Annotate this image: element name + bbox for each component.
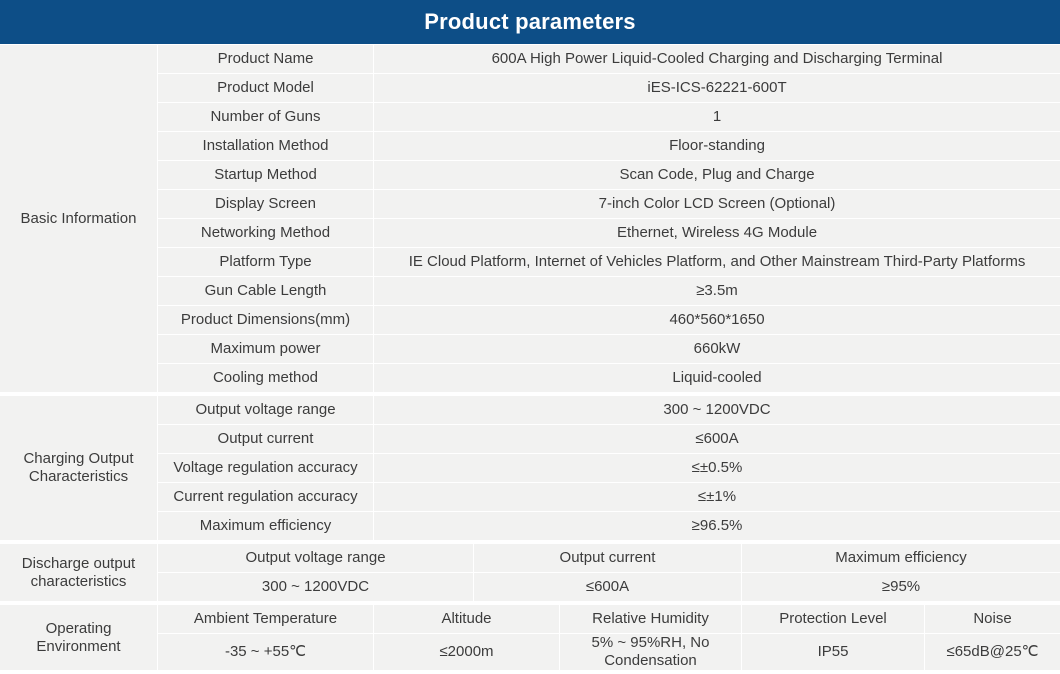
row-key-maximum-power: Maximum power: [158, 335, 374, 363]
environment-value-relative-humidity: 5% ~ 95%RH, No Condensation: [560, 634, 742, 670]
discharge-header-output-voltage-range: Output voltage range: [158, 544, 474, 572]
row-value-charging-output-voltage-range: 300 ~ 1200VDC: [374, 396, 1060, 424]
environment-value-protection-level: IP55: [742, 634, 925, 670]
row-key-product-name: Product Name: [158, 45, 374, 73]
table-row: Product Dimensions(mm) 460*560*1650: [0, 306, 1060, 334]
table-row: Basic Information Product Name 600A High…: [0, 45, 1060, 73]
discharge-value-maximum-efficiency: ≥95%: [742, 573, 1060, 601]
table-row: Cooling method Liquid-cooled: [0, 364, 1060, 392]
row-value-startup-method: Scan Code, Plug and Charge: [374, 161, 1060, 189]
row-value-maximum-power: 660kW: [374, 335, 1060, 363]
table-row: Maximum efficiency ≥96.5%: [0, 512, 1060, 540]
row-value-platform-type: IE Cloud Platform, Internet of Vehicles …: [374, 248, 1060, 276]
discharge-value-output-voltage-range: 300 ~ 1200VDC: [158, 573, 474, 601]
row-key-gun-cable-length: Gun Cable Length: [158, 277, 374, 305]
title-bar: Product parameters: [0, 0, 1060, 44]
section-label-charging-output-characteristics: Charging Output Characteristics: [0, 396, 158, 540]
table-row: -35 ~ +55℃ ≤2000m 5% ~ 95%RH, No Condens…: [0, 634, 1060, 670]
specification-table: Basic Information Product Name 600A High…: [0, 44, 1060, 674]
row-value-cooling-method: Liquid-cooled: [374, 364, 1060, 392]
table-row: 300 ~ 1200VDC ≤600A ≥95%: [0, 573, 1060, 601]
row-value-product-name: 600A High Power Liquid-Cooled Charging a…: [374, 45, 1060, 73]
row-value-installation-method: Floor-standing: [374, 132, 1060, 160]
discharge-header-output-current: Output current: [474, 544, 742, 572]
row-key-product-dimensions: Product Dimensions(mm): [158, 306, 374, 334]
product-parameters-sheet: Product parameters Basic Information Pro…: [0, 0, 1060, 669]
environment-value-altitude: ≤2000m: [374, 634, 560, 670]
discharge-header-maximum-efficiency: Maximum efficiency: [742, 544, 1060, 572]
row-key-networking-method: Networking Method: [158, 219, 374, 247]
table-row: Output current ≤600A: [0, 425, 1060, 453]
section-gap: [0, 602, 1060, 604]
table-row: Networking Method Ethernet, Wireless 4G …: [0, 219, 1060, 247]
environment-header-protection-level: Protection Level: [742, 605, 925, 633]
environment-value-noise: ≤65dB@25℃: [925, 634, 1060, 670]
table-row: Startup Method Scan Code, Plug and Charg…: [0, 161, 1060, 189]
row-key-product-model: Product Model: [158, 74, 374, 102]
row-value-product-model: iES-ICS-62221-600T: [374, 74, 1060, 102]
section-gap: [0, 541, 1060, 543]
table-row: Discharge output characteristics Output …: [0, 544, 1060, 572]
row-value-charging-output-current: ≤600A: [374, 425, 1060, 453]
row-key-voltage-regulation-accuracy: Voltage regulation accuracy: [158, 454, 374, 482]
environment-value-ambient-temperature: -35 ~ +55℃: [158, 634, 374, 670]
table-row: Installation Method Floor-standing: [0, 132, 1060, 160]
table-row: Voltage regulation accuracy ≤±0.5%: [0, 454, 1060, 482]
table-row: Gun Cable Length ≥3.5m: [0, 277, 1060, 305]
row-key-number-of-guns: Number of Guns: [158, 103, 374, 131]
row-value-gun-cable-length: ≥3.5m: [374, 277, 1060, 305]
row-value-networking-method: Ethernet, Wireless 4G Module: [374, 219, 1060, 247]
section-label-discharge-output-characteristics: Discharge output characteristics: [0, 544, 158, 601]
row-value-voltage-regulation-accuracy: ≤±0.5%: [374, 454, 1060, 482]
table-row: Maximum power 660kW: [0, 335, 1060, 363]
section-label-operating-environment: Operating Environment: [0, 605, 158, 670]
environment-header-ambient-temperature: Ambient Temperature: [158, 605, 374, 633]
table-row: Display Screen 7-inch Color LCD Screen (…: [0, 190, 1060, 218]
table-row: Number of Guns 1: [0, 103, 1060, 131]
table-row: Platform Type IE Cloud Platform, Interne…: [0, 248, 1060, 276]
row-value-current-regulation-accuracy: ≤±1%: [374, 483, 1060, 511]
environment-header-relative-humidity: Relative Humidity: [560, 605, 742, 633]
table-row: Product Model iES-ICS-62221-600T: [0, 74, 1060, 102]
row-key-installation-method: Installation Method: [158, 132, 374, 160]
row-key-cooling-method: Cooling method: [158, 364, 374, 392]
row-key-charging-output-current: Output current: [158, 425, 374, 453]
row-value-product-dimensions: 460*560*1650: [374, 306, 1060, 334]
row-value-display-screen: 7-inch Color LCD Screen (Optional): [374, 190, 1060, 218]
table-row: Charging Output Characteristics Output v…: [0, 396, 1060, 424]
discharge-value-output-current: ≤600A: [474, 573, 742, 601]
environment-header-noise: Noise: [925, 605, 1060, 633]
section-gap: [0, 393, 1060, 395]
row-key-platform-type: Platform Type: [158, 248, 374, 276]
table-row: Current regulation accuracy ≤±1%: [0, 483, 1060, 511]
section-label-basic-information: Basic Information: [0, 45, 158, 392]
row-value-charging-maximum-efficiency: ≥96.5%: [374, 512, 1060, 540]
row-value-number-of-guns: 1: [374, 103, 1060, 131]
row-key-display-screen: Display Screen: [158, 190, 374, 218]
row-key-charging-output-voltage-range: Output voltage range: [158, 396, 374, 424]
section-gap: [0, 671, 1060, 673]
environment-header-altitude: Altitude: [374, 605, 560, 633]
row-key-current-regulation-accuracy: Current regulation accuracy: [158, 483, 374, 511]
page-title: Product parameters: [424, 11, 635, 33]
row-key-charging-maximum-efficiency: Maximum efficiency: [158, 512, 374, 540]
row-key-startup-method: Startup Method: [158, 161, 374, 189]
table-row: Operating Environment Ambient Temperatur…: [0, 605, 1060, 633]
